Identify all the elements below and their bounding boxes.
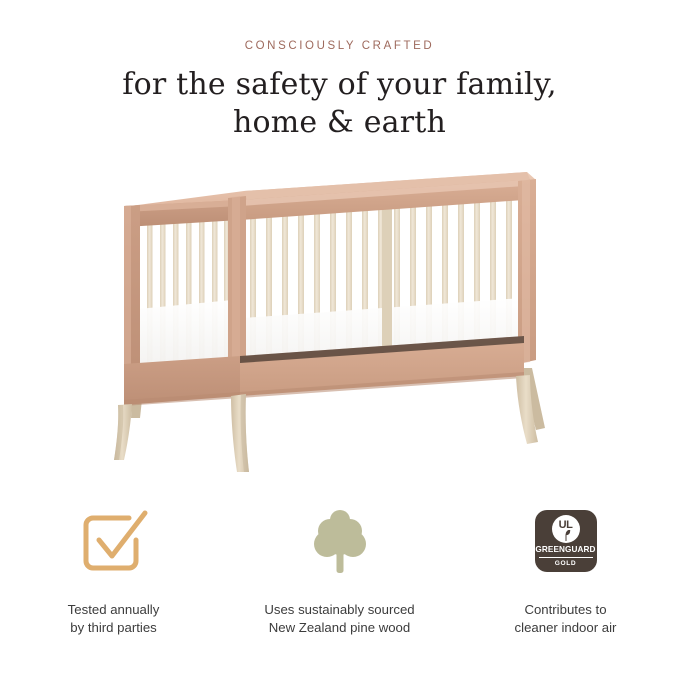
feature-caption-greenguard: Contributes to cleaner indoor air [515, 601, 617, 637]
product-image-crib [0, 160, 679, 490]
feature-item-sustainable-wood: Uses sustainably sourced New Zealand pin… [227, 495, 453, 637]
feature-item-tested: Tested annually by third parties [1, 495, 227, 637]
feature-caption-tested-line1: Tested annually [68, 601, 160, 619]
headline-line-1: for the safety of your family, [122, 67, 556, 102]
crib-illustration [0, 160, 679, 490]
feature-caption-air-line2: cleaner indoor air [515, 619, 617, 637]
page-title: for the safety of your family, home & ea… [0, 66, 679, 142]
checkbox-check-icon [77, 495, 151, 587]
greenguard-gold-badge-icon: UL GREENGUARD GOLD [535, 495, 597, 587]
feature-caption-wood-line2: New Zealand pine wood [264, 619, 414, 637]
eyebrow-text: CONSCIOUSLY CRAFTED [0, 40, 679, 52]
marketing-page: CONSCIOUSLY CRAFTED for the safety of yo… [0, 0, 679, 679]
feature-caption-wood-line1: Uses sustainably sourced [264, 601, 414, 619]
feature-caption-tested: Tested annually by third parties [68, 601, 160, 637]
feature-caption-air-line1: Contributes to [515, 601, 617, 619]
feature-item-greenguard: UL GREENGUARD GOLD Contributes to cleane… [453, 495, 679, 637]
greenguard-name: GREENGUARD [535, 545, 595, 554]
greenguard-tier-wrap: GOLD [535, 557, 597, 567]
feature-caption-sustainable-wood: Uses sustainably sourced New Zealand pin… [264, 601, 414, 637]
ul-mark-icon: UL [552, 515, 580, 543]
greenguard-tier: GOLD [539, 557, 593, 567]
headline-line-2: home & earth [0, 104, 679, 142]
leaf-icon [561, 530, 570, 541]
feature-caption-tested-line2: by third parties [68, 619, 160, 637]
feature-list: Tested annually by third parties [0, 495, 679, 645]
tree-icon [303, 495, 377, 587]
greenguard-badge: UL GREENGUARD GOLD [535, 510, 597, 572]
